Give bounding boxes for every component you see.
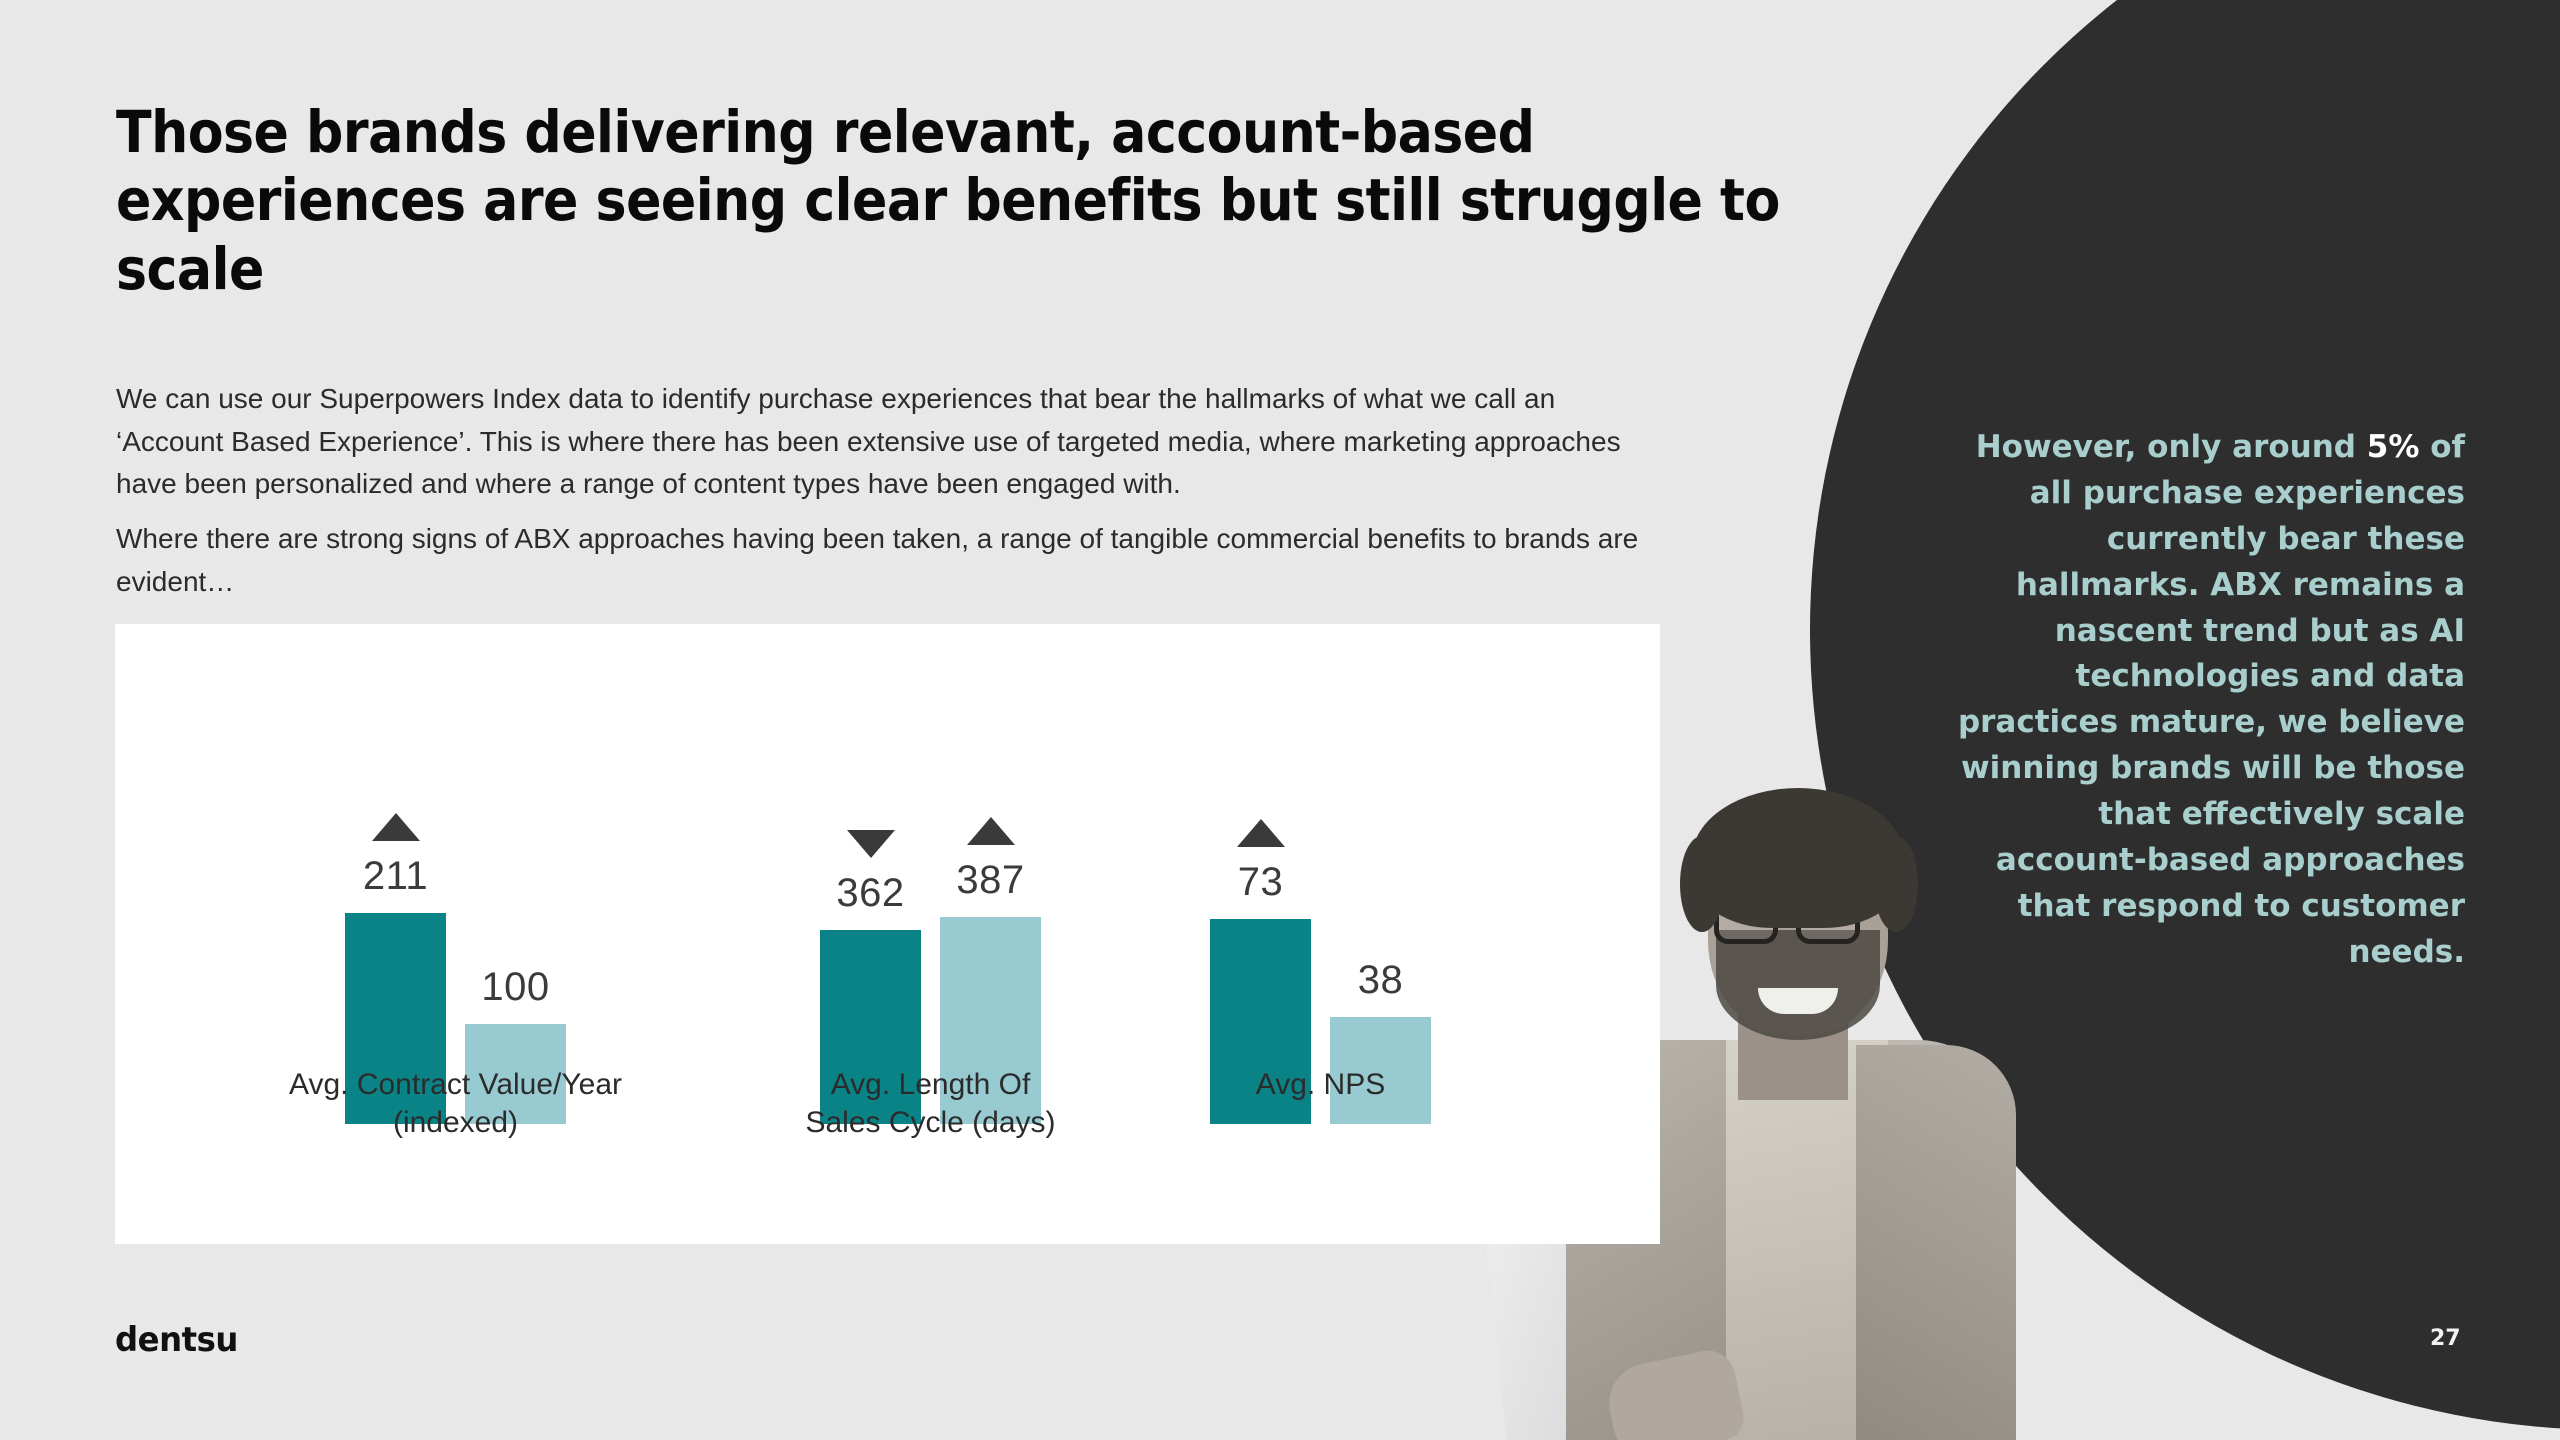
page-title: Those brands delivering relevant, accoun… bbox=[116, 98, 1826, 303]
bar-value-label: 100 bbox=[446, 965, 586, 1010]
person-hair-side-right bbox=[1874, 836, 1918, 932]
trend-up-arrow-icon bbox=[372, 813, 420, 841]
category-label: Avg. NPS bbox=[1151, 1066, 1491, 1104]
bar-value-label: 73 bbox=[1191, 860, 1331, 905]
bar-value-label: 211 bbox=[326, 854, 466, 899]
slide-canvas: Those brands delivering relevant, accoun… bbox=[0, 0, 2560, 1440]
bar-group-bars: 362387 bbox=[820, 704, 1041, 1124]
person-hair bbox=[1692, 788, 1904, 928]
bar-chart-plot: 211100Avg. Contract Value/Year(indexed)3… bbox=[115, 624, 1660, 1124]
bar-value-label: 362 bbox=[801, 871, 941, 916]
bar-group-bars: 7338 bbox=[1210, 704, 1431, 1124]
trend-up-arrow-icon bbox=[967, 817, 1015, 845]
person-beard bbox=[1716, 930, 1880, 1040]
callout-highlight: 5% bbox=[2367, 429, 2420, 465]
bar-group: 362387Avg. Length OfSales Cycle (days) bbox=[820, 624, 1041, 1124]
dentsu-logo: dentsu bbox=[115, 1320, 238, 1360]
chart-card: 211100Avg. Contract Value/Year(indexed)3… bbox=[115, 624, 1660, 1244]
person-hair-side-left bbox=[1680, 836, 1724, 932]
callout-text-before: However, only around bbox=[1976, 429, 2367, 465]
bar-value-label: 387 bbox=[921, 858, 1061, 903]
category-label: Avg. Contract Value/Year(indexed) bbox=[286, 1066, 626, 1142]
category-label: Avg. Length OfSales Cycle (days) bbox=[761, 1066, 1101, 1142]
trend-up-arrow-icon bbox=[1237, 819, 1285, 847]
body-paragraph-1: We can use our Superpowers Index data to… bbox=[116, 378, 1646, 506]
callout-text: However, only around 5% of all purchase … bbox=[1955, 425, 2465, 976]
bar-group-bars: 211100 bbox=[345, 704, 566, 1124]
page-number: 27 bbox=[2430, 1326, 2461, 1351]
bar-group: 211100Avg. Contract Value/Year(indexed) bbox=[345, 624, 566, 1124]
bar-group: 7338Avg. NPS bbox=[1210, 624, 1431, 1124]
bar-value-label: 38 bbox=[1311, 958, 1451, 1003]
person-shirt-right bbox=[1856, 1045, 2016, 1440]
callout-text-after: of all purchase experiences currently be… bbox=[1958, 429, 2465, 970]
body-paragraph-2: Where there are strong signs of ABX appr… bbox=[116, 518, 1646, 603]
trend-down-arrow-icon bbox=[847, 830, 895, 858]
